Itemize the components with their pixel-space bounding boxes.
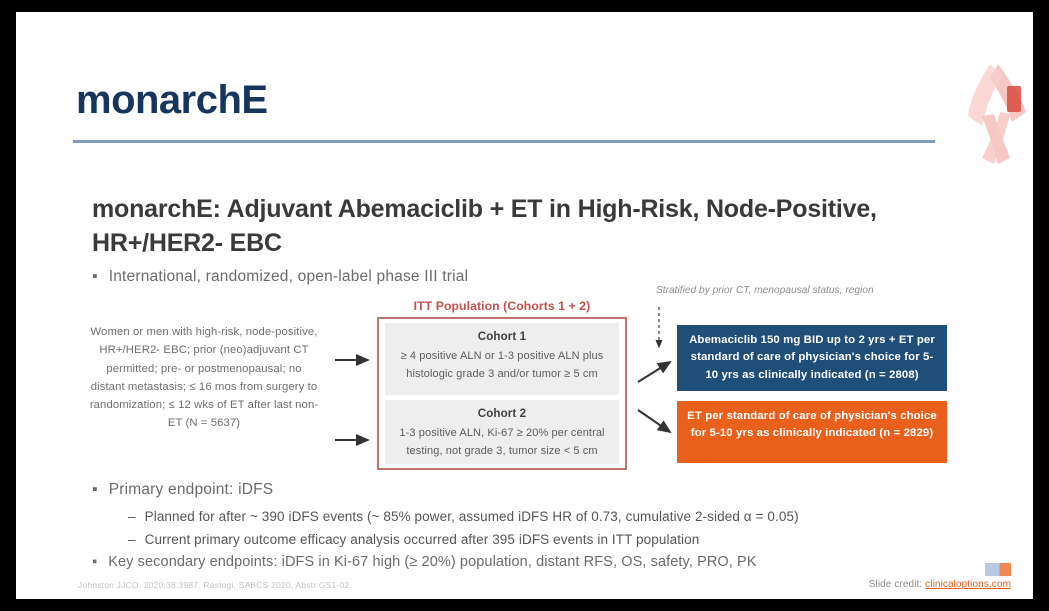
bullet-secondary-endpoints: ▪ Key secondary endpoints: iDFS in Ki-67… [92, 553, 992, 572]
cohort-2-criteria: 1-3 positive ALN, Ki-67 ≥ 20% per centra… [399, 427, 604, 456]
cohort-2-box: Cohort 2 1-3 positive ALN, Ki-67 ≥ 20% p… [385, 400, 619, 464]
sub-bullet-planned-events: – Planned for after ~ 390 iDFS events (~… [128, 508, 1008, 526]
bullet-text: Primary endpoint: iDFS [109, 480, 274, 500]
cohort-1-box: Cohort 1 ≥ 4 positive ALN or 1-3 positiv… [385, 323, 619, 395]
cohort-2-title: Cohort 2 [391, 405, 613, 423]
sub-bullet-marker: – [128, 531, 136, 549]
abemaciclib-arm-box: Abemaciclib 150 mg BID up to 2 yrs + ET … [677, 325, 947, 391]
bullet-primary-endpoint: ▪ Primary endpoint: iDFS [92, 480, 273, 500]
page-title: monarchE: Adjuvant Abemaciclib + ET in H… [92, 193, 972, 260]
itt-population-label: ITT Population (Cohorts 1 + 2) [376, 299, 628, 313]
header-divider [73, 140, 935, 143]
slide-credit: Slide credit: clinicaloptions.com [869, 579, 1011, 590]
slide-credit-label: Slide credit: [869, 579, 923, 590]
clinical-options-logo [985, 563, 1011, 576]
bullet-text: International, randomized, open-label ph… [109, 267, 469, 287]
eligibility-criteria-text: Women or men with high-risk, node-positi… [88, 323, 320, 433]
bullet-marker: ▪ [92, 553, 97, 572]
cohort-1-criteria: ≥ 4 positive ALN or 1-3 positive ALN plu… [401, 350, 604, 379]
bullet-trial-design: ▪ International, randomized, open-label … [92, 267, 468, 287]
bullet-text: Key secondary endpoints: iDFS in Ki-67 h… [108, 553, 756, 572]
screenshot-frame: monarchE monarchE: Adjuvant Abemaciclib … [0, 0, 1049, 611]
reference-citation: Johnston JJCO. 2020;38:3987. Rastogi. SA… [78, 580, 352, 590]
sub-bullet-current-analysis: – Current primary outcome efficacy analy… [128, 531, 1008, 549]
slide-credit-link[interactable]: clinicaloptions.com [925, 579, 1011, 590]
stratification-note: Stratified by prior CT, menopausal statu… [656, 284, 876, 298]
sub-bullet-text: Planned for after ~ 390 iDFS events (~ 8… [145, 508, 799, 526]
pink-awareness-ribbon-icon [952, 56, 1033, 168]
bullet-marker: ▪ [92, 267, 98, 287]
sub-bullet-marker: – [128, 508, 136, 526]
brand-title: monarchE [76, 80, 268, 120]
bullet-marker: ▪ [92, 480, 98, 500]
presentation-slide: monarchE monarchE: Adjuvant Abemaciclib … [16, 12, 1033, 599]
et-arm-box: ET per standard of care of physician's c… [677, 401, 947, 463]
sub-bullet-text: Current primary outcome efficacy analysi… [145, 531, 700, 549]
cohort-1-title: Cohort 1 [391, 328, 613, 346]
